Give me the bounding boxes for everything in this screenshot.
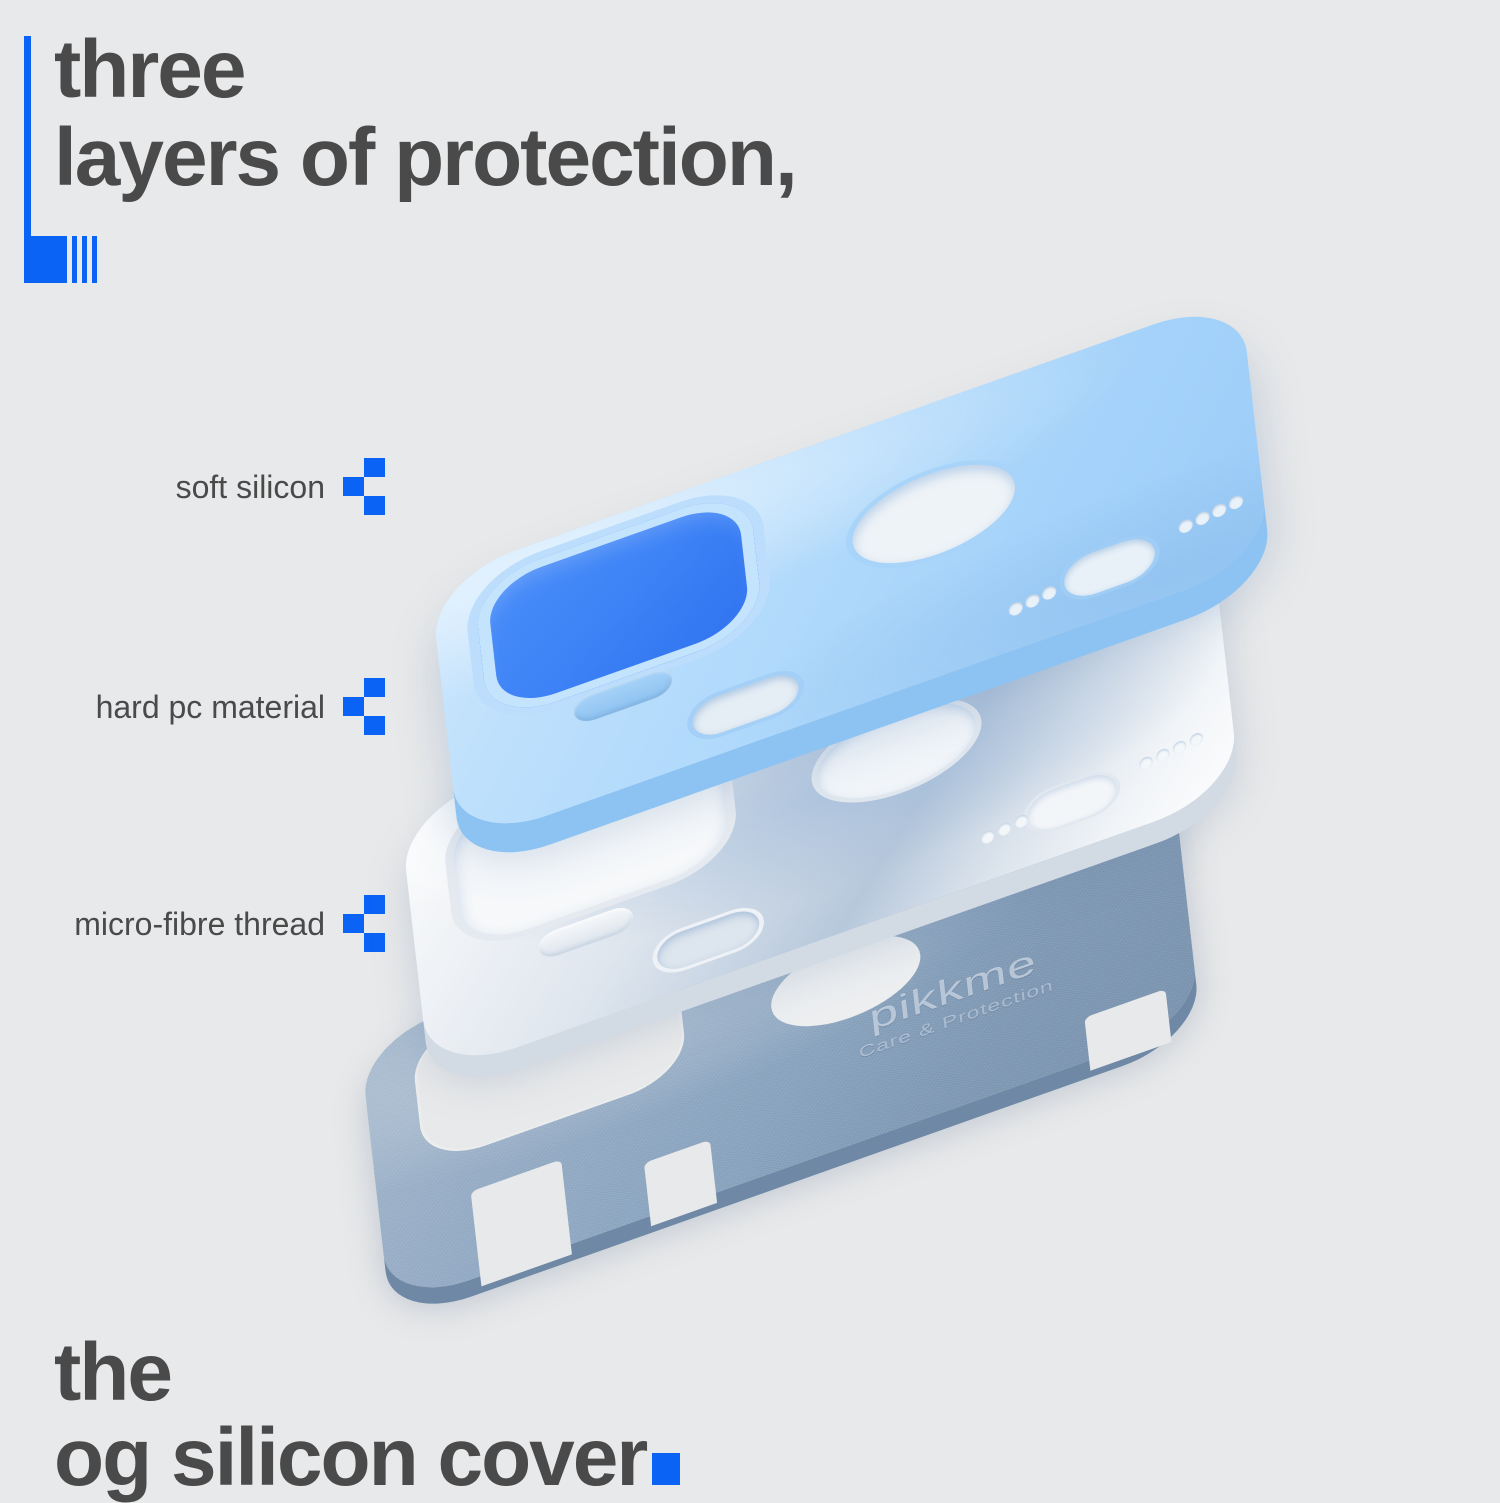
headline-line-2: layers of protection, <box>54 114 796 202</box>
accent-tick-2 <box>82 236 87 283</box>
speaker-dot <box>997 821 1012 838</box>
block-chevron-icon <box>343 458 385 516</box>
layer-label-text: micro-fibre thread <box>74 906 325 943</box>
speaker-dot <box>1189 731 1204 748</box>
speaker-dot <box>1172 739 1187 756</box>
layer-label-hard-pc: hard pc material <box>0 683 385 731</box>
footer-line-1: the <box>54 1330 1154 1415</box>
block-chevron-icon <box>343 678 385 736</box>
speaker-dot <box>1014 813 1029 830</box>
product-exploded-view: pikkme Care & Protection <box>380 330 1500 1300</box>
block-chevron-icon <box>343 895 385 953</box>
speaker-dot <box>1139 755 1154 772</box>
accent-tick-1 <box>72 236 77 283</box>
accent-square <box>24 236 67 283</box>
headline-block: three layers of protection, <box>0 0 1500 320</box>
headline-line-1: three <box>54 26 796 114</box>
speaker-dot <box>980 829 995 846</box>
speaker-dot <box>1211 501 1227 519</box>
layer-label-micro-fibre: micro-fibre thread <box>0 900 385 948</box>
page-title: three layers of protection, <box>54 26 796 201</box>
footer-block: the og silicon cover <box>54 1330 1154 1501</box>
accent-tick-3 <box>92 236 97 283</box>
accent-vertical-rule <box>24 36 31 242</box>
speaker-dot <box>1156 747 1171 764</box>
accent-period <box>652 1453 680 1485</box>
layer-label-soft-silicon: soft silicon <box>0 463 385 511</box>
layer-label-text: soft silicon <box>176 469 325 506</box>
layer-label-text: hard pc material <box>96 689 325 726</box>
speaker-dot <box>1228 494 1244 512</box>
speaker-dot <box>1008 600 1024 618</box>
footer-title: the og silicon cover <box>54 1330 1154 1501</box>
speaker-dot <box>1025 592 1041 610</box>
speaker-dot <box>1041 584 1057 602</box>
footer-line-2: og silicon cover <box>54 1415 646 1500</box>
speaker-dot <box>1178 517 1194 535</box>
speaker-dot <box>1195 509 1211 527</box>
